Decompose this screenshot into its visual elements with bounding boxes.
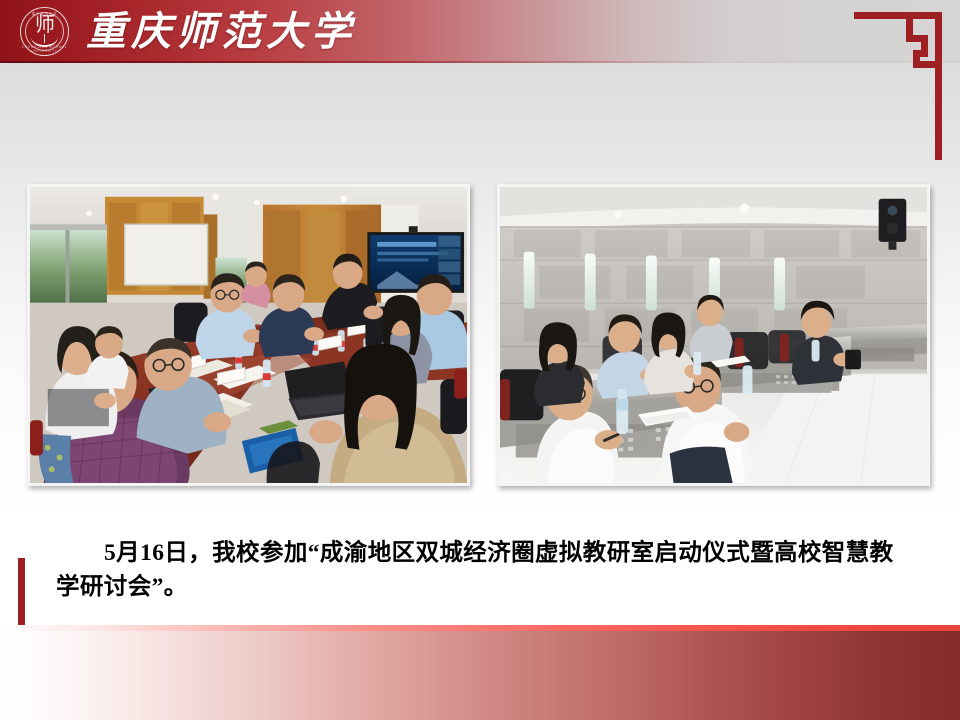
corner-ornament-icon (854, 12, 942, 160)
photo-lecture-hall-audience (497, 184, 930, 486)
photo-conference-room-meeting (27, 184, 470, 486)
university-seal-logo: 重庆师范大学 师 CHONGQING NORMAL UNIVERSITY (20, 7, 69, 56)
conference-room-photo-image (30, 187, 467, 483)
footer-band (0, 625, 960, 720)
slide-canvas: 重庆师范大学 师 CHONGQING NORMAL UNIVERSITY 重庆师… (0, 0, 960, 720)
slide-caption-text: 5月16日，我校参加“成渝地区双城经济圈虚拟教研室启动仪式暨高校智慧教学研讨会”… (56, 536, 904, 604)
footer-gradient-fill (0, 631, 960, 720)
header-band: 重庆师范大学 师 CHONGQING NORMAL UNIVERSITY 重庆师… (0, 0, 960, 63)
seal-arc-bottom-text: CHONGQING NORMAL UNIVERSITY (20, 45, 69, 53)
chinese-key-pattern-corner-top-right (854, 12, 942, 160)
seal-center-glyph: 师 (20, 15, 69, 35)
lecture-hall-photo-image (500, 187, 927, 483)
page-title: 重庆师范大学 (86, 4, 356, 60)
